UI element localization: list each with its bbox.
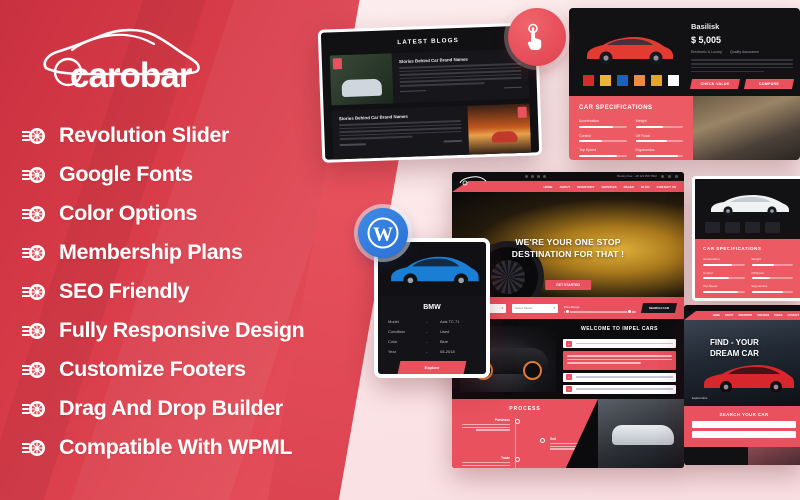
- spec-item: Ergonomics: [752, 284, 794, 293]
- spec-row-value: 08-2018: [440, 349, 455, 354]
- spec-row-sep: -: [426, 329, 440, 334]
- tire-icon: [22, 203, 46, 225]
- spec-item: Top Speed: [579, 148, 627, 157]
- process-step: Trade: [462, 456, 598, 468]
- blog-post-excerpt: [399, 63, 522, 87]
- tire-icon: [22, 125, 46, 147]
- blog-thumbnail: [467, 104, 531, 156]
- select-model-dropdown[interactable]: Select Model▾: [512, 304, 558, 313]
- wordpress-icon: W: [366, 216, 400, 250]
- car-detail-header: Basilisk $ 5,005 Electronic & Luxury Qua…: [569, 8, 800, 96]
- dream-search-field[interactable]: [692, 421, 796, 428]
- swatch-red[interactable]: [583, 75, 594, 86]
- accordion-header[interactable]: +: [563, 385, 676, 394]
- bmw-car-card[interactable]: BMW Model - Axis TC 71 Condition - Used …: [374, 238, 490, 378]
- search-car-button[interactable]: SEARCH CAR: [641, 303, 677, 313]
- spec-icon-row[interactable]: [705, 222, 780, 233]
- feature-label: SEO Friendly: [59, 279, 189, 304]
- dream-search-field[interactable]: [692, 431, 796, 438]
- process-step-label: Trade: [462, 456, 510, 460]
- dream-search-panel[interactable]: SEARCH YOUR CAR: [684, 406, 800, 447]
- dream-car-mockup[interactable]: HOME ABOUT INVENTORY SERVICES PAGES CONT…: [684, 305, 800, 465]
- accordion-header[interactable]: +: [563, 373, 676, 382]
- process-car-image: [598, 399, 684, 468]
- spec-bar: [636, 126, 684, 128]
- brand-name: carobar: [70, 56, 191, 96]
- swatch-white[interactable]: [668, 75, 679, 86]
- spec-item: Weight: [636, 119, 684, 128]
- spec-item: Off Road: [636, 134, 684, 143]
- bmw-card-body: BMW Model - Axis TC 71 Condition - Used …: [378, 296, 486, 374]
- spec-row-sep: -: [426, 339, 440, 344]
- feature-item: Color Options: [22, 194, 330, 233]
- spec-bar: [579, 126, 627, 128]
- spec-card-image: [695, 179, 800, 239]
- wordpress-badge[interactable]: W: [358, 208, 408, 258]
- blog-post-card[interactable]: Stories Behind Car Brand Names: [330, 49, 530, 106]
- spec-row-label: Color: [388, 339, 426, 344]
- car-image: [342, 79, 383, 97]
- nav-item-inventory[interactable]: INVENTORY: [738, 314, 752, 317]
- spec-row-value: Blue: [440, 339, 448, 344]
- spec-bar: [752, 291, 794, 293]
- dream-headline: FIND - YOUR DREAM CAR: [710, 338, 759, 360]
- spec-item: Control: [579, 134, 627, 143]
- spec-row-label: Model: [388, 319, 426, 324]
- spec-item: Ergonomics: [636, 148, 684, 157]
- dream-search-title: SEARCH YOUR CAR: [692, 412, 796, 417]
- spec-item: Top Speed: [703, 284, 745, 293]
- spec-item: Acceleration: [703, 257, 745, 266]
- slider-handle-min[interactable]: [565, 309, 570, 314]
- nav-item-inventory[interactable]: INVENTORY: [577, 185, 594, 189]
- car-tag: Quality Assurance: [730, 50, 759, 54]
- spec-item: Acceleration: [579, 119, 627, 128]
- spec-label: Weight: [752, 257, 794, 261]
- dream-footer: [684, 447, 800, 465]
- brand-logo: carobar: [28, 18, 238, 110]
- spec-item: Weight: [752, 257, 794, 266]
- blog-post-card[interactable]: Stories Behind Car Brand Names: [332, 104, 532, 161]
- spec-bar: [703, 277, 745, 279]
- blog-post-meta: [400, 86, 522, 92]
- compare-button[interactable]: COMPARE: [744, 79, 794, 89]
- spec-bar: [579, 155, 627, 157]
- hand-click-icon: [524, 23, 550, 51]
- spec-bar: [636, 155, 684, 157]
- process-timeline: PROCESS Purchase Sell: [452, 399, 598, 468]
- left-content-column: carobar Revolution Slider Google Fonts: [0, 0, 330, 500]
- car-name: Basilisk: [691, 22, 793, 31]
- spec-row: Year - 08-2018: [388, 349, 476, 354]
- blue-car-image: [382, 248, 486, 290]
- gear-icon[interactable]: [745, 222, 760, 233]
- nav-item-services[interactable]: SERVICES: [757, 314, 769, 317]
- color-swatches[interactable]: [583, 75, 679, 86]
- welcome-content: WELCOME TO IMPEL CARS + + +: [563, 326, 676, 392]
- process-steps: Purchase Sell Trade: [452, 418, 598, 468]
- spec-label: Control: [703, 271, 745, 275]
- car-tags: Electronic & Luxury Quality Assurance: [691, 50, 793, 54]
- blog-post-excerpt: [339, 120, 461, 140]
- nav-item-contact[interactable]: CONTACT: [787, 314, 799, 317]
- dream-hero: FIND - YOUR DREAM CAR Explore More: [684, 320, 800, 406]
- feature-label: Revolution Slider: [59, 123, 229, 148]
- timeline-dot: [540, 438, 545, 443]
- blog-post-body: Stories Behind Car Brand Names: [332, 106, 470, 161]
- topbar-phone: Booking Now : +00 123 4567 8910: [617, 175, 657, 178]
- feature-label: Membership Plans: [59, 240, 243, 265]
- spec-label: Ergonomics: [636, 148, 684, 152]
- tire-icon: [22, 164, 46, 186]
- spec-grid: Acceleration Weight Control Off Road Top…: [579, 119, 683, 157]
- slider-handle-max[interactable]: [627, 309, 632, 314]
- hero-cta-button[interactable]: GET STARTED: [545, 280, 591, 290]
- process-section: PROCESS Purchase Sell: [452, 399, 684, 468]
- red-car-image: [583, 32, 675, 65]
- nav-item-pages[interactable]: PAGES: [624, 185, 634, 189]
- car-detail-footer: CAR SPECIFICATIONS Acceleration Weight C…: [569, 96, 800, 160]
- feature-item: SEO Friendly: [22, 272, 330, 311]
- swatch-orange[interactable]: [634, 75, 645, 86]
- spec-row-sep: -: [426, 349, 440, 354]
- nav-item-about[interactable]: ABOUT: [725, 314, 734, 317]
- spec-label: Acceleration: [579, 119, 627, 123]
- nav-item-contact[interactable]: CONTACT US: [657, 185, 676, 189]
- svg-text:W: W: [373, 224, 393, 246]
- tire-icon: [22, 281, 46, 303]
- slider-track[interactable]: [564, 311, 636, 313]
- spec-row-sep: -: [426, 319, 440, 324]
- dream-navigation[interactable]: HOME ABOUT INVENTORY SERVICES PAGES CONT…: [684, 311, 800, 320]
- feature-item: Google Fonts: [22, 155, 330, 194]
- car-description: [691, 59, 793, 72]
- swatch-blue[interactable]: [617, 75, 628, 86]
- car-gallery: [569, 8, 689, 96]
- spec-label: Top Speed: [703, 284, 745, 288]
- spec-row-label: Condition: [388, 329, 426, 334]
- spec-label: Weight: [636, 119, 684, 123]
- site-logo-icon: [458, 175, 488, 187]
- car-detail-mockup[interactable]: Basilisk $ 5,005 Electronic & Luxury Qua…: [569, 8, 800, 160]
- spec-label: Off Road: [752, 271, 794, 275]
- engine-icon[interactable]: [765, 222, 780, 233]
- process-step-text: Sell: [550, 437, 598, 451]
- process-step-text: Trade: [462, 456, 510, 468]
- process-step: Sell: [520, 437, 598, 451]
- red-sports-car-image: [700, 362, 796, 392]
- spec-row-value: Used: [440, 329, 449, 334]
- feature-item: Compatible With WPML: [22, 428, 330, 467]
- feature-item: Customize Footers: [22, 350, 330, 389]
- nav-item-services[interactable]: SERVICES: [601, 185, 616, 189]
- click-badge[interactable]: [508, 8, 566, 66]
- swatch-gold[interactable]: [651, 75, 662, 86]
- blog-thumbnail: [330, 53, 394, 105]
- white-convertible-image: [708, 191, 792, 216]
- feature-item: Drag And Drop Builder: [22, 389, 330, 428]
- nav-item-home[interactable]: HOME: [713, 314, 720, 317]
- dream-explore-label[interactable]: Explore More: [692, 397, 707, 400]
- car-interior-image: [693, 96, 800, 160]
- tire-icon: [22, 242, 46, 264]
- feature-label: Drag And Drop Builder: [59, 396, 283, 421]
- tire-icon: [22, 437, 46, 459]
- dream-line-1: FIND - YOUR: [710, 338, 759, 349]
- tire-icon: [22, 398, 46, 420]
- spec-label: Off Road: [636, 134, 684, 138]
- spec-item: Control: [703, 271, 745, 280]
- car-tag: Electronic & Luxury: [691, 50, 722, 54]
- spec-bar: [752, 277, 794, 279]
- spec-bar: [752, 264, 794, 266]
- accordion-header[interactable]: +: [563, 339, 676, 348]
- feature-item: Fully Responsive Design: [22, 311, 330, 350]
- dream-topbar: [684, 305, 800, 311]
- spec-panel-title: CAR SPECIFICATIONS: [579, 105, 683, 111]
- spec-row: Model - Axis TC 71: [388, 319, 476, 324]
- car-info: Basilisk $ 5,005 Electronic & Luxury Qua…: [689, 8, 800, 96]
- spec-label: Acceleration: [703, 257, 745, 261]
- feature-item: Revolution Slider: [22, 116, 330, 155]
- spec-row: Condition - Used: [388, 329, 476, 334]
- spec-row-value: Axis TC 71: [440, 319, 460, 324]
- spec-panel-title: CAR SPECIFICATIONS: [703, 246, 793, 251]
- process-step: Purchase: [462, 418, 598, 432]
- price-range-label: Price Range: [564, 305, 636, 309]
- nav-item-blog[interactable]: BLOG: [641, 185, 650, 189]
- tire-icon: [22, 320, 46, 342]
- spec-row: Color - Blue: [388, 339, 476, 344]
- accordion-body: [563, 351, 676, 370]
- spec-label: Ergonomics: [752, 284, 794, 288]
- nav-item-home[interactable]: HOME: [543, 185, 552, 189]
- bmw-card-title: BMW: [388, 304, 476, 311]
- process-step-text: Purchase: [462, 418, 510, 432]
- feature-list: Revolution Slider Google Fonts Color Opt…: [22, 116, 330, 467]
- blog-post-meta: [340, 140, 462, 146]
- car-specifications-panel: CAR SPECIFICATIONS Acceleration Weight C…: [569, 96, 693, 160]
- car-actions: CHECK VALUE COMPARE: [691, 79, 793, 89]
- spec-item: Off Road: [752, 271, 794, 280]
- feature-label: Customize Footers: [59, 357, 246, 382]
- fuel-icon[interactable]: [705, 222, 720, 233]
- blog-post-body: Stories Behind Car Brand Names: [392, 49, 530, 104]
- nav-item-about[interactable]: ABOUT: [559, 185, 570, 189]
- spec-label: Control: [579, 134, 627, 138]
- feature-label: Compatible With WPML: [59, 435, 292, 460]
- spec-grid: Acceleration Weight Control Off Road Top…: [703, 257, 793, 293]
- date-badge: [333, 58, 342, 69]
- dream-line-2: DREAM CAR: [710, 349, 759, 360]
- spec-label: Top Speed: [579, 148, 627, 152]
- feature-label: Fully Responsive Design: [59, 318, 304, 343]
- process-step-label: Purchase: [462, 418, 510, 422]
- welcome-title: WELCOME TO IMPEL CARS: [563, 326, 676, 332]
- spec-bar: [703, 291, 745, 293]
- seat-icon[interactable]: [725, 222, 740, 233]
- feature-label: Google Fonts: [59, 162, 193, 187]
- feature-item: Membership Plans: [22, 233, 330, 272]
- swatch-yellow[interactable]: [600, 75, 611, 86]
- spec-bar: [579, 140, 627, 142]
- nav-item-pages[interactable]: PAGES: [774, 314, 782, 317]
- spec-card-panel: CAR SPECIFICATIONS Acceleration Weight C…: [695, 239, 800, 301]
- spec-row-label: Year: [388, 349, 426, 354]
- date-badge: [518, 107, 527, 118]
- price-range-slider[interactable]: Price Range: [564, 303, 636, 313]
- car-specifications-card[interactable]: CAR SPECIFICATIONS Acceleration Weight C…: [692, 176, 800, 301]
- car-price: $ 5,005: [691, 35, 793, 45]
- spec-bar: [636, 140, 684, 142]
- check-value-button[interactable]: CHECK VALUE: [690, 79, 740, 89]
- car-image: [491, 131, 517, 143]
- process-step-label: Sell: [550, 437, 598, 441]
- timeline-line: [515, 418, 516, 468]
- tire-icon: [22, 359, 46, 381]
- spec-bar: [703, 264, 745, 266]
- explore-button[interactable]: Explore: [398, 361, 467, 374]
- feature-label: Color Options: [59, 201, 197, 226]
- car-image: [612, 425, 674, 445]
- process-title: PROCESS: [452, 406, 598, 412]
